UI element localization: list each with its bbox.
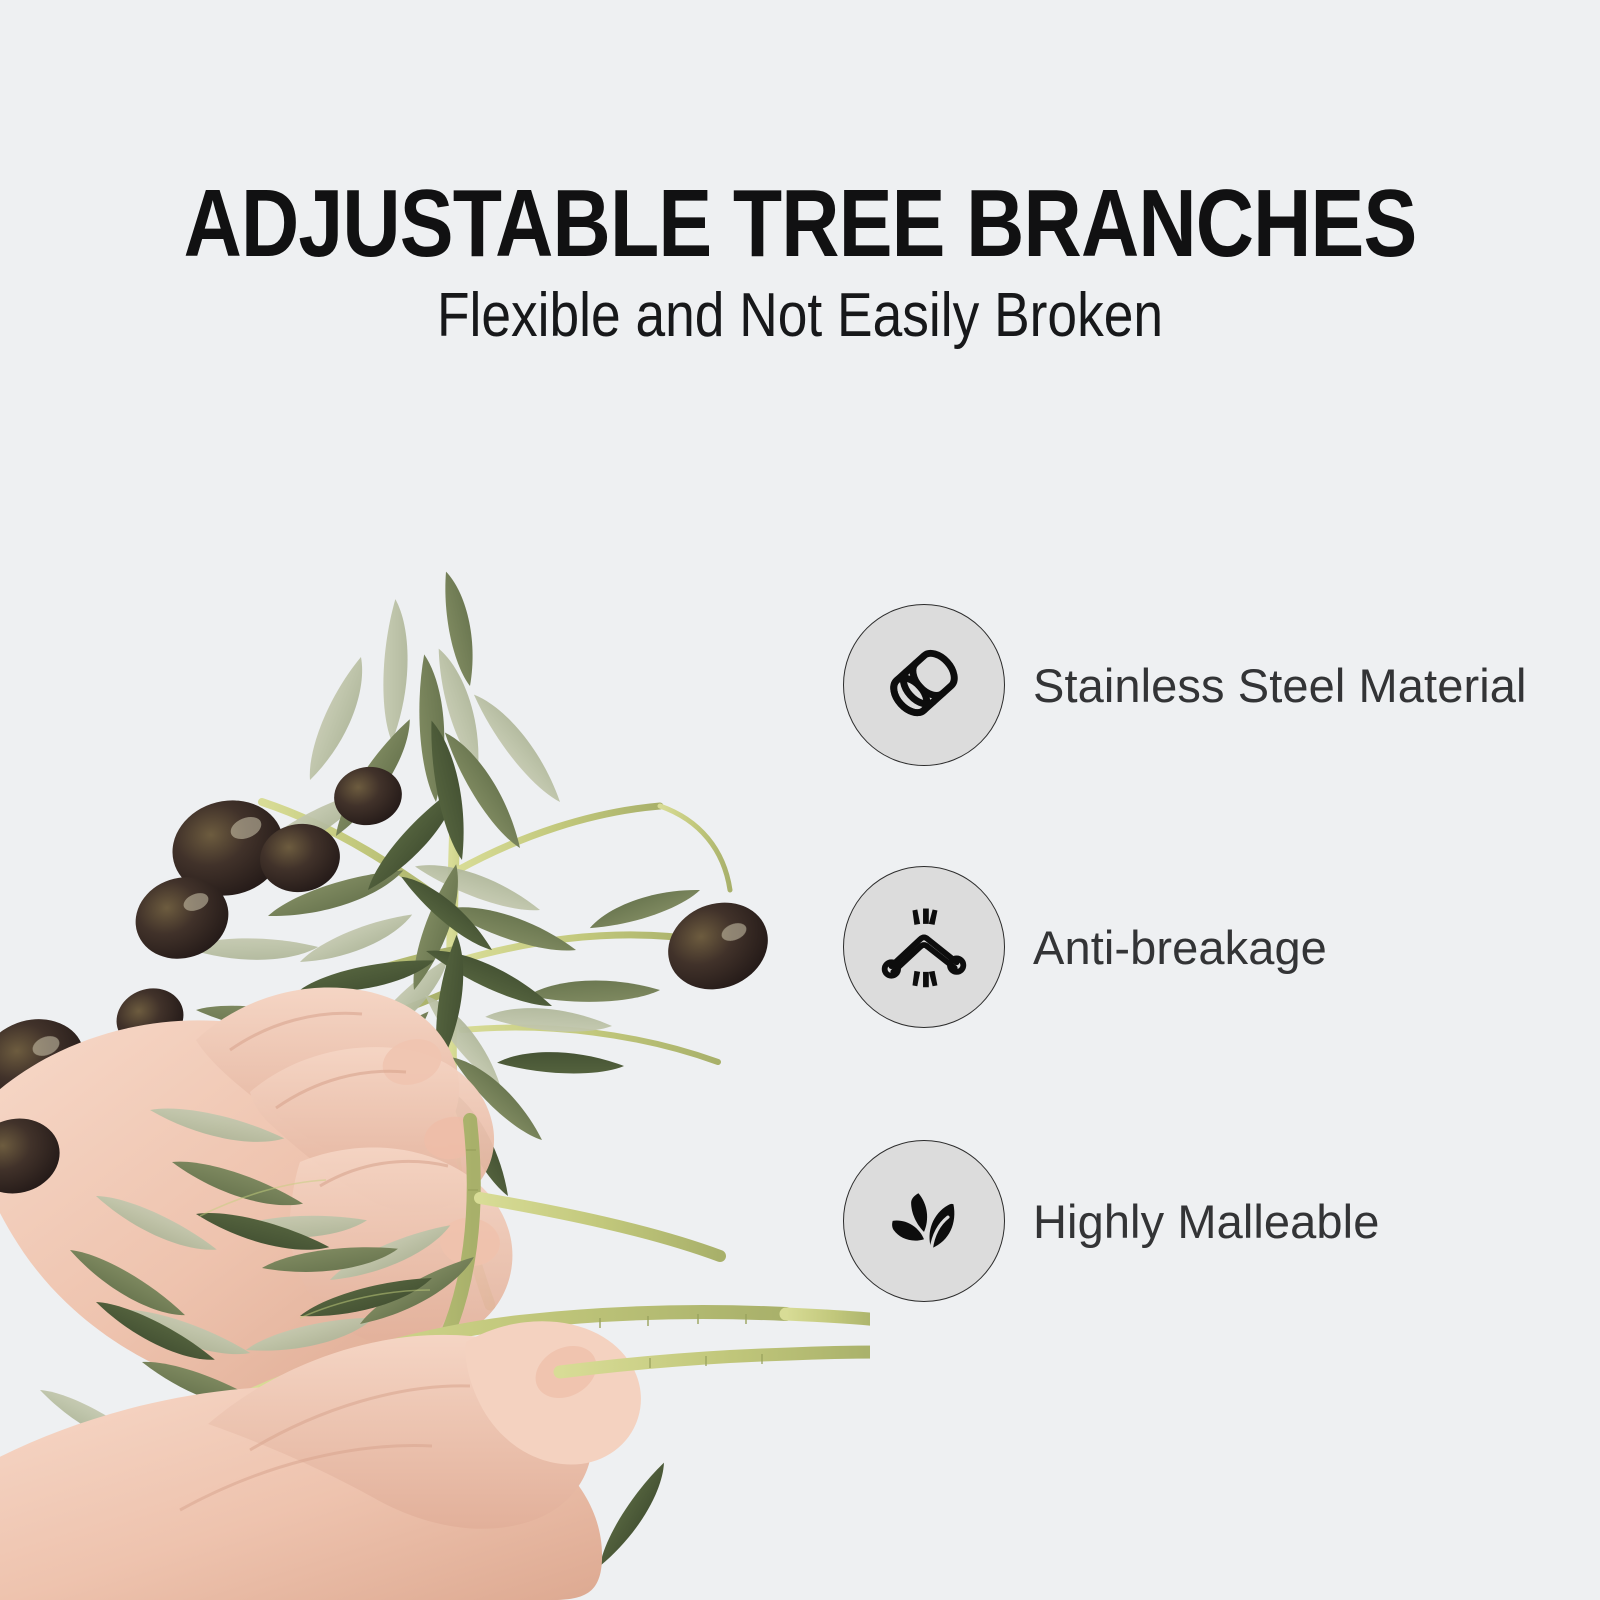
feature-icon-badge — [843, 1140, 1005, 1302]
page-subtitle: Flexible and Not Easily Broken — [112, 285, 1488, 347]
page-title: ADJUSTABLE TREE BRANCHES — [128, 176, 1472, 272]
feature-label: Stainless Steel Material — [1033, 658, 1527, 713]
product-photo — [0, 350, 870, 1600]
feature-item-anti-breakage[interactable]: Anti-breakage — [843, 866, 1327, 1028]
steel-rod-icon — [878, 637, 970, 734]
feature-item-highly-malleable[interactable]: Highly Malleable — [843, 1140, 1379, 1302]
feature-item-stainless-steel[interactable]: Stainless Steel Material — [843, 604, 1527, 766]
feature-icon-badge — [843, 604, 1005, 766]
feature-icon-badge — [843, 866, 1005, 1028]
product-feature-card: ADJUSTABLE TREE BRANCHES Flexible and No… — [0, 0, 1600, 1600]
bending-rod-icon — [876, 897, 972, 998]
feature-label: Highly Malleable — [1033, 1194, 1379, 1249]
leaves-icon — [878, 1173, 970, 1270]
feature-label: Anti-breakage — [1033, 920, 1327, 975]
